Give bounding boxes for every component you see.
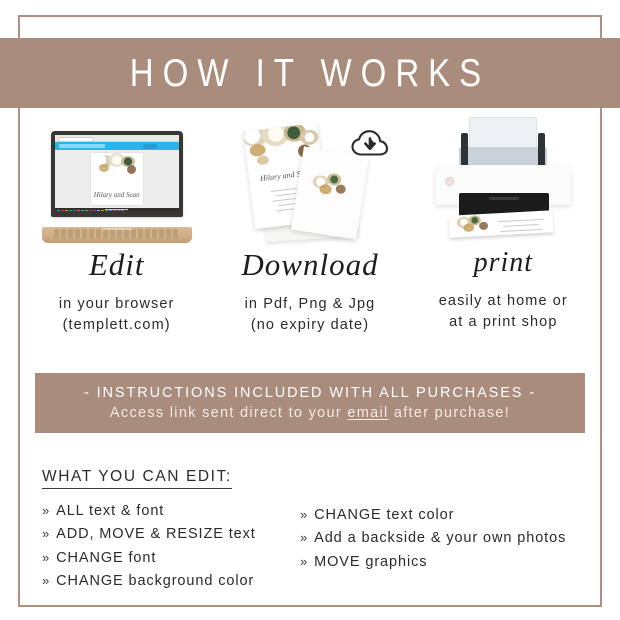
list-item-label: ALL text & font bbox=[56, 503, 164, 519]
download-cards-icon: Hilary and Sean bbox=[213, 118, 406, 243]
instructions-headline: - INSTRUCTIONS INCLUDED WITH ALL PURCHAS… bbox=[84, 385, 536, 401]
step-edit: Hilary and Sean bbox=[20, 118, 213, 348]
laptop-icon: Hilary and Sean bbox=[20, 118, 213, 243]
list-item-label: ADD, MOVE & RESIZE text bbox=[56, 526, 256, 542]
list-item-label: MOVE graphics bbox=[314, 554, 427, 570]
step-download: Hilary and Sean bbox=[213, 118, 406, 348]
caption-line-2: (no expiry date) bbox=[245, 315, 376, 336]
bullet-chevron-icon: » bbox=[42, 503, 50, 518]
edit-capability-lists: »ALL text & font »ADD, MOVE & RESIZE tex… bbox=[42, 500, 582, 594]
step-caption-print: easily at home or at a print shop bbox=[439, 291, 568, 332]
edit-list-left: »ALL text & font »ADD, MOVE & RESIZE tex… bbox=[42, 500, 300, 594]
step-caption-edit: in your browser (templett.com) bbox=[59, 294, 175, 335]
email-link[interactable]: email bbox=[347, 405, 388, 421]
title-banner: HOW IT WORKS bbox=[0, 38, 620, 108]
edit-section-heading: WHAT YOU CAN EDIT: bbox=[42, 468, 232, 489]
list-item: »MOVE graphics bbox=[300, 551, 582, 574]
bullet-chevron-icon: » bbox=[300, 507, 308, 522]
caption-line-2: at a print shop bbox=[439, 312, 568, 333]
list-item-label: CHANGE text color bbox=[314, 507, 454, 523]
bullet-chevron-icon: » bbox=[300, 530, 308, 545]
list-item-label: CHANGE background color bbox=[56, 573, 254, 589]
list-item-label: CHANGE font bbox=[56, 550, 156, 566]
cloud-download-icon bbox=[351, 129, 389, 159]
list-item: »CHANGE font bbox=[42, 547, 300, 570]
caption-line-2: (templett.com) bbox=[59, 315, 175, 336]
list-item-label: Add a backside & your own photos bbox=[314, 530, 566, 546]
caption-line-1: easily at home or bbox=[439, 291, 568, 312]
printer-icon bbox=[407, 118, 600, 243]
bullet-chevron-icon: » bbox=[42, 526, 50, 541]
page-title: HOW IT WORKS bbox=[130, 51, 490, 96]
instructions-banner: - INSTRUCTIONS INCLUDED WITH ALL PURCHAS… bbox=[35, 373, 585, 433]
step-label-print: print bbox=[474, 249, 533, 277]
how-it-works-infographic: HOW IT WORKS bbox=[0, 0, 620, 620]
step-label-edit: Edit bbox=[89, 249, 145, 280]
list-item: »Add a backside & your own photos bbox=[300, 527, 582, 550]
printed-invitation bbox=[449, 210, 554, 237]
step-caption-download: in Pdf, Png & Jpg (no expiry date) bbox=[245, 294, 376, 335]
list-item: »ADD, MOVE & RESIZE text bbox=[42, 523, 300, 546]
bullet-chevron-icon: » bbox=[300, 554, 308, 569]
step-print: print easily at home or at a print shop bbox=[407, 118, 600, 348]
bullet-chevron-icon: » bbox=[42, 573, 50, 588]
instructions-subline: Access link sent direct to your email af… bbox=[110, 405, 510, 421]
caption-line-1: in Pdf, Png & Jpg bbox=[245, 294, 376, 315]
list-item: »CHANGE background color bbox=[42, 570, 300, 593]
steps-row: Hilary and Sean bbox=[20, 118, 600, 348]
instructions-subline-after: after purchase! bbox=[389, 405, 511, 421]
edit-list-right: »CHANGE text color »Add a backside & you… bbox=[300, 500, 582, 594]
invitation-card-back bbox=[291, 146, 369, 239]
instructions-subline-before: Access link sent direct to your bbox=[110, 405, 347, 421]
bullet-chevron-icon: » bbox=[42, 550, 50, 565]
list-item: »ALL text & font bbox=[42, 500, 300, 523]
step-label-download: Download bbox=[241, 249, 378, 280]
list-item: »CHANGE text color bbox=[300, 504, 582, 527]
caption-line-1: in your browser bbox=[59, 294, 175, 315]
